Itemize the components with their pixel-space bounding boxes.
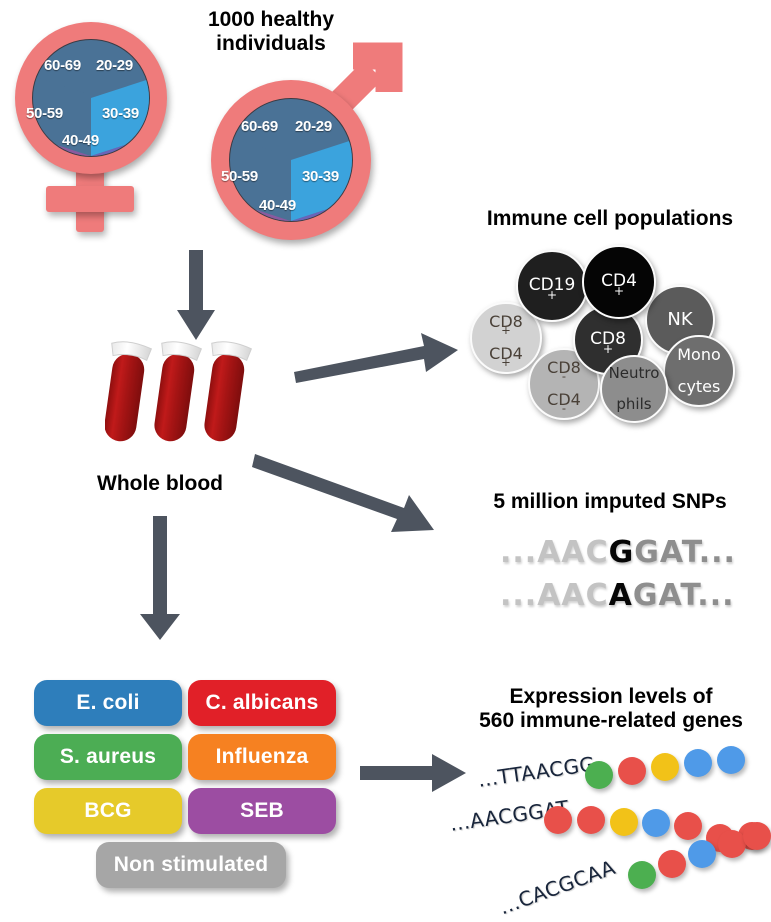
- immune-cell-label: CD4+: [601, 273, 637, 290]
- snp-prefix: ...AAC: [500, 535, 609, 570]
- expression-bead: [717, 746, 745, 774]
- pie-label-50-59: 50-59: [26, 105, 63, 122]
- immune-cell-label: Monocytes: [677, 347, 721, 396]
- male-symbol: 20-29 30-39 40-49 50-59 60-69: [203, 38, 423, 253]
- expression-title: Expression levels of 560 immune-related …: [455, 685, 767, 732]
- immune-cell-cd19: CD19+: [516, 250, 588, 322]
- snp-variant: G: [609, 535, 635, 570]
- expression-sequence: ...TTAACGG: [476, 752, 596, 792]
- stimulus-label: Influenza: [216, 745, 309, 769]
- female-symbol: 20-29 30-39 40-49 50-59 60-69: [8, 14, 188, 229]
- expression-strands: ...TTAACGG ...AACGGAT ...CACGCAA: [450, 745, 771, 915]
- stimulus-label: E. coli: [76, 691, 139, 715]
- snp-prefix: ...AAC: [500, 578, 609, 613]
- expression-bead: [658, 850, 686, 878]
- expression-bead: [642, 809, 670, 837]
- immune-cell-cluster: CD19+ CD4+ NK CD8+CD4+ CD8+ Monocytes CD…: [460, 245, 760, 425]
- immune-cell-neutrophils: Neutrophils: [600, 355, 668, 423]
- expression-bead: [610, 808, 638, 836]
- expression-bead: [688, 840, 716, 868]
- expression-bead: [651, 753, 679, 781]
- snp-variant: A: [609, 578, 633, 613]
- stimulus-label: BCG: [84, 799, 131, 823]
- stimulus-label: C. albicans: [205, 691, 318, 715]
- arrow-down-blood-to-stimuli: [138, 516, 182, 642]
- snp-suffix: GAT...: [634, 535, 736, 570]
- arrow-blood-to-snps: [252, 432, 462, 542]
- stimulus-seb[interactable]: SEB: [188, 788, 336, 834]
- expression-bead: [684, 749, 712, 777]
- expression-bead: [618, 757, 646, 785]
- stimulus-non-stimulated[interactable]: Non stimulated: [96, 842, 286, 888]
- snp-sequence-row-1: ...AACGGAT...: [500, 535, 736, 570]
- pie-label-30-39: 30-39: [302, 168, 339, 185]
- immune-cell-label: NK: [667, 311, 692, 329]
- immune-cell-label: Neutrophils: [609, 366, 660, 412]
- immune-cell-cd4: CD4+: [582, 245, 656, 319]
- expression-bead: [718, 830, 746, 858]
- expression-bead: [628, 861, 656, 889]
- pie-label-20-29: 20-29: [295, 118, 332, 135]
- immune-cell-label: CD8+CD4+: [489, 314, 523, 363]
- immune-cell-label: CD8+: [590, 331, 626, 348]
- blood-tubes: [105, 340, 275, 465]
- female-symbol-crossbar: [46, 186, 134, 212]
- stimulus-label: SEB: [240, 799, 284, 823]
- pie-label-60-69: 60-69: [44, 57, 81, 74]
- stimulus-influenza[interactable]: Influenza: [188, 734, 336, 780]
- stimulus-s-aureus[interactable]: S. aureus: [34, 734, 182, 780]
- stimulus-label: S. aureus: [60, 745, 156, 769]
- immune-cell-monocytes: Monocytes: [663, 335, 735, 407]
- pie-label-40-49: 40-49: [259, 197, 296, 214]
- immune-cell-label: CD8-CD4-: [547, 360, 581, 409]
- stimulus-e-coli[interactable]: E. coli: [34, 680, 182, 726]
- snp-suffix: GAT...: [633, 578, 735, 613]
- expression-bead: [544, 806, 572, 834]
- expression-strand-3: ...CACGCAA: [450, 850, 771, 915]
- immune-cell-label: CD19+: [529, 277, 576, 294]
- pie-label-50-59: 50-59: [221, 168, 258, 185]
- expression-bead: [743, 822, 771, 850]
- stimulus-bcg[interactable]: BCG: [34, 788, 182, 834]
- expression-bead: [585, 761, 613, 789]
- expression-sequence: ...CACGCAA: [496, 855, 619, 919]
- expression-bead: [577, 806, 605, 834]
- pie-label-40-49: 40-49: [62, 132, 99, 149]
- arrow-down-cohort-to-blood: [175, 250, 217, 342]
- cohort-title-line1: 1000 healthy: [176, 8, 366, 32]
- expression-title-line2: 560 immune-related genes: [455, 709, 767, 733]
- pie-label-30-39: 30-39: [102, 105, 139, 122]
- stimulus-c-albicans[interactable]: C. albicans: [188, 680, 336, 726]
- expression-title-line1: Expression levels of: [455, 685, 767, 709]
- pie-label-20-29: 20-29: [96, 57, 133, 74]
- immune-title: Immune cell populations: [455, 207, 765, 231]
- stimuli-panel: E. coli C. albicans S. aureus Influenza …: [30, 680, 350, 895]
- arrow-blood-to-immune-cells: [292, 326, 462, 386]
- expression-bead: [674, 812, 702, 840]
- snp-sequence-row-2: ...AACAGAT...: [500, 578, 735, 613]
- snps-title: 5 million imputed SNPs: [460, 490, 760, 514]
- whole-blood-label: Whole blood: [85, 472, 235, 496]
- stimulus-label: Non stimulated: [114, 853, 268, 877]
- pie-label-60-69: 60-69: [241, 118, 278, 135]
